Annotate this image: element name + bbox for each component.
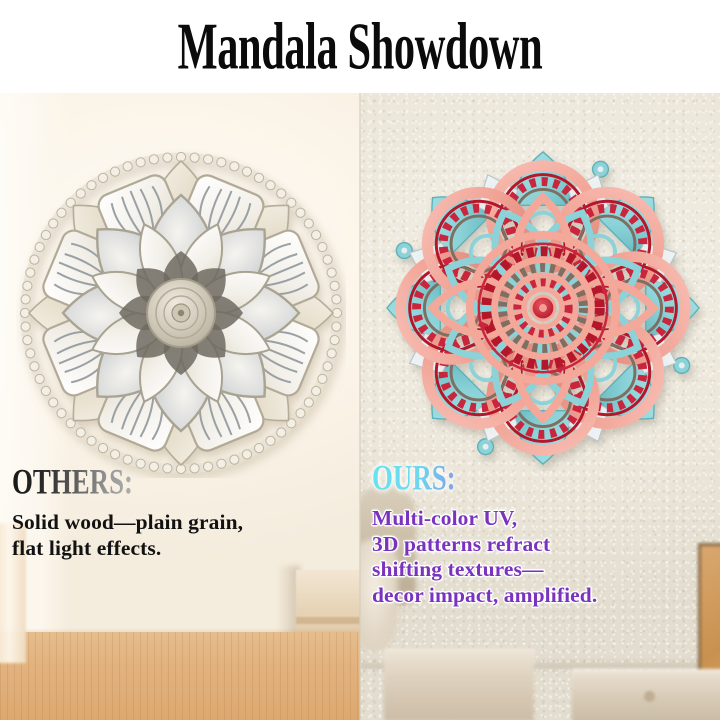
shelf-edge-left <box>296 617 360 624</box>
title-bar: Mandala Showdown <box>0 0 720 93</box>
wood-floor-left <box>0 632 360 720</box>
text-block-others: OTHERS: Solid wood—plain grain, flat lig… <box>12 465 358 561</box>
console-left <box>384 651 534 720</box>
drawer-knob <box>644 691 655 702</box>
text-block-ours: OURS: Multi-color UV, 3D patterns refrac… <box>372 461 718 608</box>
description-ours: Multi-color UV, 3D patterns refract shif… <box>372 506 718 608</box>
comparison-graphic: Mandala Showdown <box>0 0 720 720</box>
mandala-ours <box>380 145 706 471</box>
description-others: Solid wood—plain grain, flat light effec… <box>12 510 358 561</box>
panel-others: OTHERS: Solid wood—plain grain, flat lig… <box>0 93 360 720</box>
panel-ours: OURS: Multi-color UV, 3D patterns refrac… <box>360 93 720 720</box>
page-title: Mandala Showdown <box>178 14 543 81</box>
mandala-others <box>16 148 346 478</box>
label-others: OTHERS: <box>12 463 303 499</box>
label-ours: OURS: <box>372 459 663 495</box>
panel-divider <box>359 93 361 720</box>
